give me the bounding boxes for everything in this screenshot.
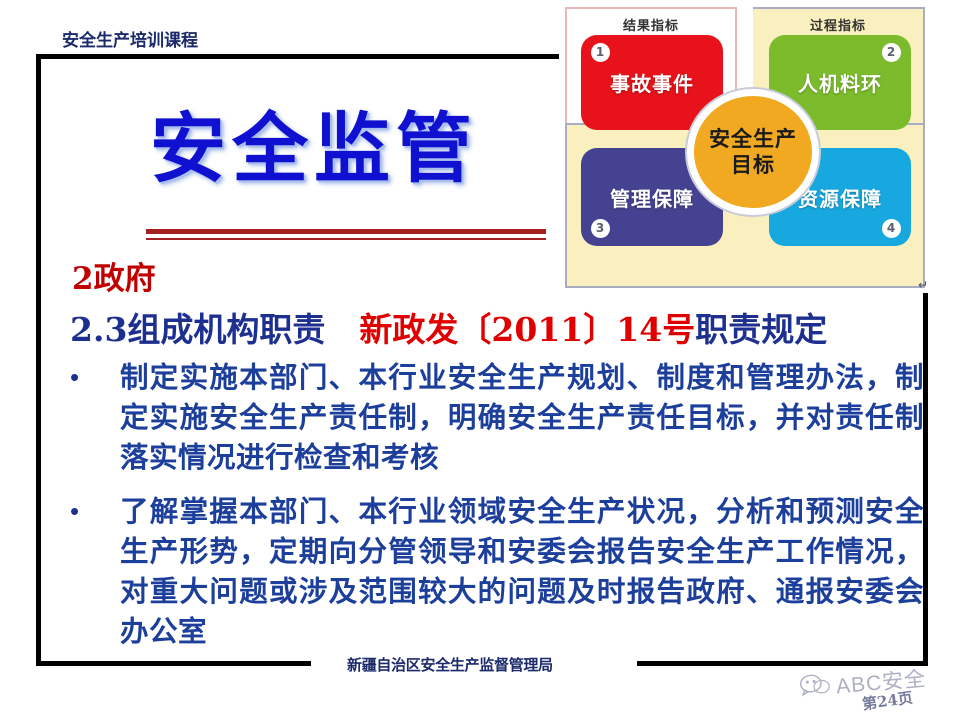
diagram-center-line2: 目标 xyxy=(731,152,775,178)
page-title: 安全监管 xyxy=(150,103,478,195)
list-item-text: 了解掌握本部门、本行业领域安全生产状况，分析和预测安全生产形势，定期向分管领导和… xyxy=(120,491,924,651)
course-header-label: 安全生产培训课程 xyxy=(62,26,198,51)
slide-canvas: 安全生产培训课程 安全监管 2政府 2.3组成机构职责新政发〔2011〕14号职… xyxy=(0,0,960,720)
diagram-badge-2: 2 xyxy=(882,43,901,62)
list-item-text: 制定实施本部门、本行业安全生产规划、制度和管理办法，制定实施安全生产责任制，明确… xyxy=(120,357,924,477)
diagram-box-label: 人机料环 xyxy=(798,68,882,97)
frame-left-border xyxy=(36,54,41,666)
diagram-box-label: 事故事件 xyxy=(610,68,694,97)
list-item: • 制定实施本部门、本行业安全生产规划、制度和管理办法，制定实施安全生产责任制，… xyxy=(62,357,924,477)
diagram-center-target: 安全生产 目标 xyxy=(687,89,819,215)
diagram-box-label: 管理保障 xyxy=(610,183,694,212)
diagram-cursor-marker: ↵ xyxy=(918,278,928,292)
heading-duty-suffix: 职责规定 xyxy=(695,310,827,349)
heading-duty-title: 2.3组成机构职责 xyxy=(70,310,325,349)
section-heading-level1: 2政府 xyxy=(72,253,156,298)
diagram-caption-process: 过程指标 xyxy=(753,15,923,34)
bullet-list: • 制定实施本部门、本行业安全生产规划、制度和管理办法，制定实施安全生产责任制，… xyxy=(62,357,924,665)
bullet-dot-icon: • xyxy=(62,357,120,397)
footer-organization: 新疆自治区安全生产监督管理局 xyxy=(347,654,553,675)
diagram-badge-3: 3 xyxy=(591,219,610,238)
title-rule-thick xyxy=(146,229,546,234)
diagram-box-label: 资源保障 xyxy=(798,183,882,212)
section-heading-level2: 2.3组成机构职责新政发〔2011〕14号职责规定 xyxy=(70,303,827,351)
diagram-center-line1: 安全生产 xyxy=(709,126,797,152)
title-rule-thin xyxy=(146,238,546,240)
heading-document-number: 新政发〔2011〕14号 xyxy=(359,310,695,349)
diagram-badge-1: 1 xyxy=(591,43,610,62)
diagram-caption-result: 结果指标 xyxy=(567,15,735,34)
wechat-icon xyxy=(799,672,831,702)
diagram-badge-4: 4 xyxy=(882,219,901,238)
bullet-dot-icon: • xyxy=(62,491,120,531)
list-item: • 了解掌握本部门、本行业领域安全生产状况，分析和预测安全生产形势，定期向分管领… xyxy=(62,491,924,651)
safety-target-diagram: 结果指标 过程指标 1 事故事件 2 人机料环 3 管理保障 4 资源保障 xyxy=(559,3,931,293)
